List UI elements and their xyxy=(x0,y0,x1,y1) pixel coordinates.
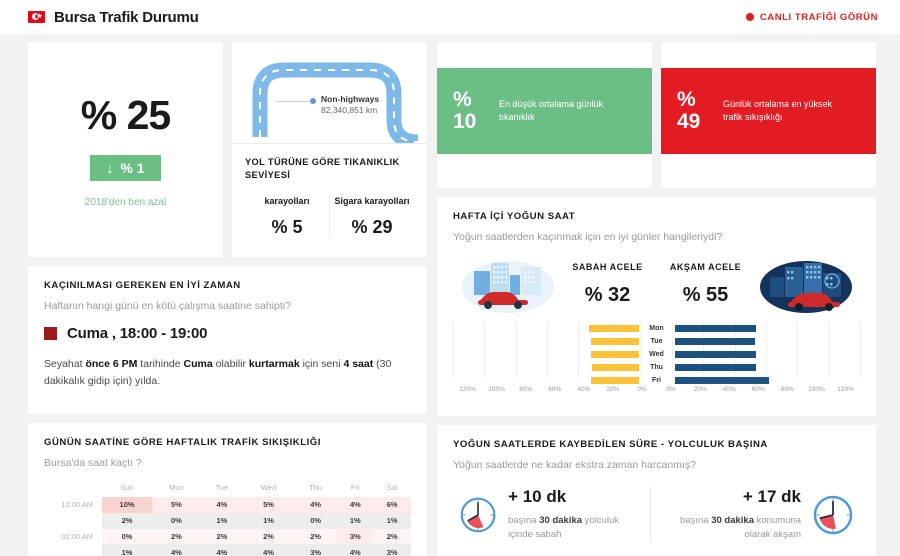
road-split-highways: karayolları % 5 xyxy=(245,196,329,238)
lowest-congestion-desc: En düşük ortalama günlük tıkanıklık xyxy=(499,98,627,125)
rush-summary-row: SABAH ACELE % 32 AKŞAM ACELE % 55 xyxy=(453,253,860,315)
heatmap-cell[interactable]: 0% xyxy=(152,513,201,529)
lost-time-panel: YOĞUN SAATLERDE KAYBEDİLEN SÜRE - YOLCUL… xyxy=(437,425,876,556)
best-time-headline: Cuma , 18:00 - 19:00 xyxy=(67,325,207,342)
percent-number: 49 xyxy=(677,111,711,133)
heatmap-cell[interactable]: 3% xyxy=(294,544,337,556)
best-time-panel: KAÇINILMASI GEREKEN EN İYİ ZAMAN Haftanı… xyxy=(28,266,427,414)
morning-bar-cell xyxy=(453,338,639,345)
chart-tick-label: 20% xyxy=(598,386,627,393)
evening-rush-value: % 55 xyxy=(660,284,752,307)
morning-bar-cell xyxy=(453,325,639,332)
morning-bar-cell xyxy=(453,351,639,358)
chart-bar-row: Tue xyxy=(453,336,860,347)
chart-tick-label: 0% xyxy=(627,386,656,393)
chart-tick-label: 100% xyxy=(482,386,511,393)
chart-bar-row: Fri xyxy=(453,375,860,386)
heatmap-time-label xyxy=(44,513,102,529)
heatmap-column-header: Sun xyxy=(102,480,152,497)
legend-leader-line xyxy=(276,101,310,102)
heatmap-cell[interactable]: 10% xyxy=(102,497,152,513)
heatmap-cell[interactable]: 1% xyxy=(337,513,373,529)
best-time-description: Seyahat önce 6 PM tarihinde Cuma olabili… xyxy=(44,356,411,390)
heatmap-time-header xyxy=(44,480,102,497)
gridline xyxy=(860,321,861,377)
app-header: Bursa Trafik Durumu CANLI TRAFİĞİ GÖRÜN xyxy=(0,0,900,34)
heatmap-cell[interactable]: 3% xyxy=(337,529,373,545)
percent-sign: % xyxy=(677,89,711,111)
road-split-label: karayolları xyxy=(245,196,329,206)
arrow-down-icon: ↓ xyxy=(106,160,113,176)
heatmap-cell[interactable]: 1% xyxy=(373,513,411,529)
heatmap-subtitle: Bursa'da saat kaçtı ? xyxy=(44,457,411,469)
road-congestion-section: YOL TÜRÜNE GÖRE TIKANIKLIK SEVİYESİ kara… xyxy=(232,144,427,257)
road-type-card: Non-highways 82,340,851 km YOL TÜRÜNE GÖ… xyxy=(232,42,427,257)
severity-swatch-icon xyxy=(44,327,57,340)
road-split-value: % 29 xyxy=(330,217,414,238)
view-live-traffic-link[interactable]: CANLI TRAFİĞİ GÖRÜN xyxy=(746,12,878,23)
chart-day-label: Mon xyxy=(639,325,675,332)
heatmap-table: SunMonTueWedThuFriSat 12:00 AM10%5%4%5%4… xyxy=(44,480,411,556)
road-legend-label: Non-highways xyxy=(321,94,379,104)
heatmap-time-label: 02:00 AM xyxy=(44,529,102,545)
desc-part: tarihinde xyxy=(137,358,183,370)
morning-rush-caption: SABAH ACELE xyxy=(562,262,654,272)
lost-time-desc: başına 30 dakika yolculuk içinde sabah xyxy=(508,514,644,543)
lost-time-row: + 10 dk başına 30 dakika yolculuk içinde… xyxy=(453,487,860,543)
highest-congestion-value: % 49 xyxy=(677,89,711,133)
morning-bar-cell xyxy=(453,377,639,384)
heatmap-row: 1%4%4%4%3%4%3% xyxy=(44,544,411,556)
morning-rush-stat: SABAH ACELE % 32 xyxy=(562,262,654,307)
heatmap-column-header: Mon xyxy=(152,480,201,497)
morning-bar[interactable] xyxy=(592,364,638,371)
daily-stat-row: % 10 En düşük ortalama günlük tıkanıklık… xyxy=(437,42,876,188)
heatmap-cell[interactable]: 4% xyxy=(243,544,294,556)
desc-part: için seni xyxy=(300,358,344,370)
desc-part: 30 dakika xyxy=(711,515,754,526)
road-congestion-title: YOL TÜRÜNE GÖRE TIKANIKLIK SEVİYESİ xyxy=(245,156,414,183)
lost-time-subtitle: Yoğun saatlerde ne kadar ekstra zaman ha… xyxy=(453,459,860,471)
heatmap-cell[interactable]: 4% xyxy=(337,497,373,513)
road-congestion-splits: karayolları % 5 Sigara karayolları % 29 xyxy=(245,196,414,238)
evening-bar-cell xyxy=(675,377,861,384)
chart-bars: MonTueWedThuFri xyxy=(453,323,860,388)
desc-part: önce 6 PM xyxy=(85,358,137,370)
turkish-flag-icon xyxy=(28,11,45,23)
road-split-label: Sigara karayolları xyxy=(330,196,414,206)
chart-day-label: Tue xyxy=(639,338,675,345)
heatmap-cell[interactable]: 2% xyxy=(102,513,152,529)
heatmap-cell[interactable]: 4% xyxy=(337,544,373,556)
highest-congestion-desc: Günlük ortalama en yüksek trafik sıkışık… xyxy=(723,98,851,125)
evening-bar-cell xyxy=(675,338,861,345)
desc-part: 30 dakika xyxy=(539,515,582,526)
heatmap-row: 2%0%1%1%0%1%1% xyxy=(44,513,411,529)
chart-tick-label: 120% xyxy=(831,386,860,393)
left-column: % 25 ↓ % 1 2018'den beri azal xyxy=(28,42,427,556)
chart-bar-row: Wed xyxy=(453,349,860,360)
chart-tick-label: 60% xyxy=(744,386,773,393)
live-dot-icon xyxy=(746,13,754,21)
congestion-level-value: % 25 xyxy=(81,92,170,139)
heatmap-cell[interactable]: 2% xyxy=(373,529,411,545)
morning-bar[interactable] xyxy=(591,338,639,345)
morning-bar[interactable] xyxy=(589,325,638,332)
heatmap-cell[interactable]: 5% xyxy=(152,497,201,513)
best-time-subtitle: Haftanın hangi günü en kötü çalışma saat… xyxy=(44,300,411,312)
desc-part: Cuma xyxy=(184,358,213,370)
best-time-headline-row: Cuma , 18:00 - 19:00 xyxy=(44,325,411,342)
heatmap-column-header: Fri xyxy=(337,480,373,497)
road-legend: Non-highways 82,340,851 km xyxy=(321,94,379,115)
desc-part: 4 saat xyxy=(343,358,373,370)
change-badge: ↓ % 1 xyxy=(90,155,160,181)
heatmap-row: 12:00 AM10%5%4%5%4%4%6% xyxy=(44,497,411,513)
lost-time-desc: başına 30 dakika konumuna olarak akşam xyxy=(669,514,801,543)
evening-bar[interactable] xyxy=(675,325,757,332)
desc-part: Seyahat xyxy=(44,358,85,370)
right-column: % 10 En düşük ortalama günlük tıkanıklık… xyxy=(437,42,876,556)
evening-bar-cell xyxy=(675,364,861,371)
lowest-congestion-value: % 10 xyxy=(453,89,487,133)
view-live-traffic-label: CANLI TRAFİĞİ GÖRÜN xyxy=(760,12,878,23)
evening-bar-cell xyxy=(675,325,861,332)
heatmap-cell[interactable]: 2% xyxy=(152,529,201,545)
evening-rush-caption: AKŞAM ACELE xyxy=(660,262,752,272)
lost-time-morning-text: + 10 dk başına 30 dakika yolculuk içinde… xyxy=(508,487,644,543)
percent-sign: % xyxy=(453,89,487,111)
heatmap-cell[interactable]: 4% xyxy=(201,544,243,556)
chart-tick-label: 100% xyxy=(802,386,831,393)
heatmap-body: 12:00 AM10%5%4%5%4%4%6%2%0%1%1%0%1%1%02:… xyxy=(44,497,411,556)
heatmap-column-header: Thu xyxy=(294,480,337,497)
heatmap-header-row: SunMonTueWedThuFriSat xyxy=(44,480,411,497)
desc-part: kurtarmak xyxy=(249,358,300,370)
page-title: Bursa Trafik Durumu xyxy=(54,9,199,26)
highest-congestion-stat: % 49 Günlük ortalama en yüksek trafik sı… xyxy=(661,68,876,154)
night-city-car-icon xyxy=(758,253,854,315)
heatmap-time-label: 12:00 AM xyxy=(44,497,102,513)
lost-time-value: + 17 dk xyxy=(669,487,801,507)
heatmap-cell[interactable]: 1% xyxy=(102,544,152,556)
heatmap-cell[interactable]: 2% xyxy=(201,529,243,545)
evening-bar[interactable] xyxy=(675,377,769,384)
chart-tick-label: 60% xyxy=(540,386,569,393)
legend-dot-icon xyxy=(310,98,316,104)
chart-tick-label: 120% xyxy=(453,386,482,393)
heatmap-cell[interactable]: 6% xyxy=(373,497,411,513)
road-split-value: % 5 xyxy=(245,217,329,238)
heatmap-cell[interactable]: 3% xyxy=(373,544,411,556)
change-note: 2018'den beri azal xyxy=(85,197,166,208)
heatmap-cell[interactable]: 5% xyxy=(243,497,294,513)
heatmap-cell[interactable]: 0% xyxy=(102,529,152,545)
chart-day-label: Thu xyxy=(639,364,675,371)
heatmap-column-header: Tue xyxy=(201,480,243,497)
rush-subtitle: Yoğun saatlerden kaçınmak için en iyi gü… xyxy=(453,231,860,243)
chart-bar-row: Thu xyxy=(453,362,860,373)
lost-time-evening-text: + 17 dk başına 30 dakika konumuna olarak… xyxy=(669,487,801,543)
clock-icon xyxy=(459,494,497,536)
chart-day-label: Wed xyxy=(639,351,675,358)
heatmap-time-label xyxy=(44,544,102,556)
road-illustration: Non-highways 82,340,851 km xyxy=(232,42,427,144)
percent-number: 10 xyxy=(453,111,487,133)
chart-tick-label: 40% xyxy=(569,386,598,393)
top-kpi-row: % 25 ↓ % 1 2018'den beri azal xyxy=(28,42,427,257)
clock-icon xyxy=(812,494,854,536)
chart-tick-label: 80% xyxy=(773,386,802,393)
heatmap-title: GÜNÜN SAATİNE GÖRE HAFTALIK TRAFİK SIKIŞ… xyxy=(44,437,411,448)
chart-tick-label: 20% xyxy=(686,386,715,393)
chart-day-label: Fri xyxy=(639,377,675,384)
evening-rush-stat: AKŞAM ACELE % 55 xyxy=(660,262,752,307)
lost-time-morning: + 10 dk başına 30 dakika yolculuk içinde… xyxy=(453,487,650,543)
heatmap-cell[interactable]: 1% xyxy=(243,513,294,529)
evening-bar[interactable] xyxy=(675,351,757,358)
highest-congestion-card: % 49 Günlük ortalama en yüksek trafik sı… xyxy=(661,42,876,188)
morning-bar[interactable] xyxy=(591,351,639,358)
rush-bar-chart: MonTueWedThuFri 120%100%80%60%40%20%0%0%… xyxy=(453,321,860,393)
best-time-title: KAÇINILMASI GEREKEN EN İYİ ZAMAN xyxy=(44,280,411,291)
desc-part: olabilir xyxy=(213,358,249,370)
road-split-nonhighways: Sigara karayolları % 29 xyxy=(329,196,414,238)
heatmap-row: 02:00 AM0%2%2%2%2%3%2% xyxy=(44,529,411,545)
desc-part: başına xyxy=(508,515,539,526)
heatmap-cell[interactable]: 2% xyxy=(294,529,337,545)
weekly-heatmap-panel: GÜNÜN SAATİNE GÖRE HAFTALIK TRAFİK SIKIŞ… xyxy=(28,423,427,556)
congestion-level-card: % 25 ↓ % 1 2018'den beri azal xyxy=(28,42,223,257)
morning-rush-value: % 32 xyxy=(562,284,654,307)
chart-tick-label: 40% xyxy=(715,386,744,393)
change-badge-value: % 1 xyxy=(120,160,144,176)
evening-bar-cell xyxy=(675,351,861,358)
heatmap-cell[interactable]: 4% xyxy=(201,497,243,513)
evening-bar[interactable] xyxy=(675,338,755,345)
lost-time-value: + 10 dk xyxy=(508,487,644,507)
lowest-congestion-card: % 10 En düşük ortalama günlük tıkanıklık xyxy=(437,42,652,188)
desc-part: başına xyxy=(680,515,711,526)
morning-bar-cell xyxy=(453,364,639,371)
chart-tick-label: 0% xyxy=(657,386,686,393)
lowest-congestion-stat: % 10 En düşük ortalama günlük tıkanıklık xyxy=(437,68,652,154)
lost-time-evening: + 17 dk başına 30 dakika konumuna olarak… xyxy=(650,487,860,543)
heatmap-cell[interactable]: 1% xyxy=(201,513,243,529)
chart-bar-row: Mon xyxy=(453,323,860,334)
winding-road-icon xyxy=(232,42,427,144)
day-city-car-icon xyxy=(460,253,556,315)
heatmap-cell[interactable]: 2% xyxy=(243,529,294,545)
rush-title: HAFTA İÇİ YOĞUN SAAT xyxy=(453,211,860,222)
dashboard-body: % 25 ↓ % 1 2018'den beri azal xyxy=(0,34,900,556)
heatmap-cell[interactable]: 4% xyxy=(152,544,201,556)
chart-tick-label: 80% xyxy=(511,386,540,393)
weekday-rush-panel: HAFTA İÇİ YOĞUN SAAT Yoğun saatlerden ka… xyxy=(437,197,876,416)
brand: Bursa Trafik Durumu xyxy=(28,9,199,26)
evening-bar[interactable] xyxy=(675,364,757,371)
heatmap-column-header: Wed xyxy=(243,480,294,497)
chart-x-axis-ticks: 120%100%80%60%40%20%0%0%20%40%60%80%100%… xyxy=(453,386,860,393)
lost-time-title: YOĞUN SAATLERDE KAYBEDİLEN SÜRE - YOLCUL… xyxy=(453,439,860,450)
heatmap-column-header: Sat xyxy=(373,480,411,497)
heatmap-cell[interactable]: 0% xyxy=(294,513,337,529)
morning-bar[interactable] xyxy=(591,377,639,384)
heatmap-cell[interactable]: 4% xyxy=(294,497,337,513)
road-legend-value: 82,340,851 km xyxy=(321,105,379,115)
